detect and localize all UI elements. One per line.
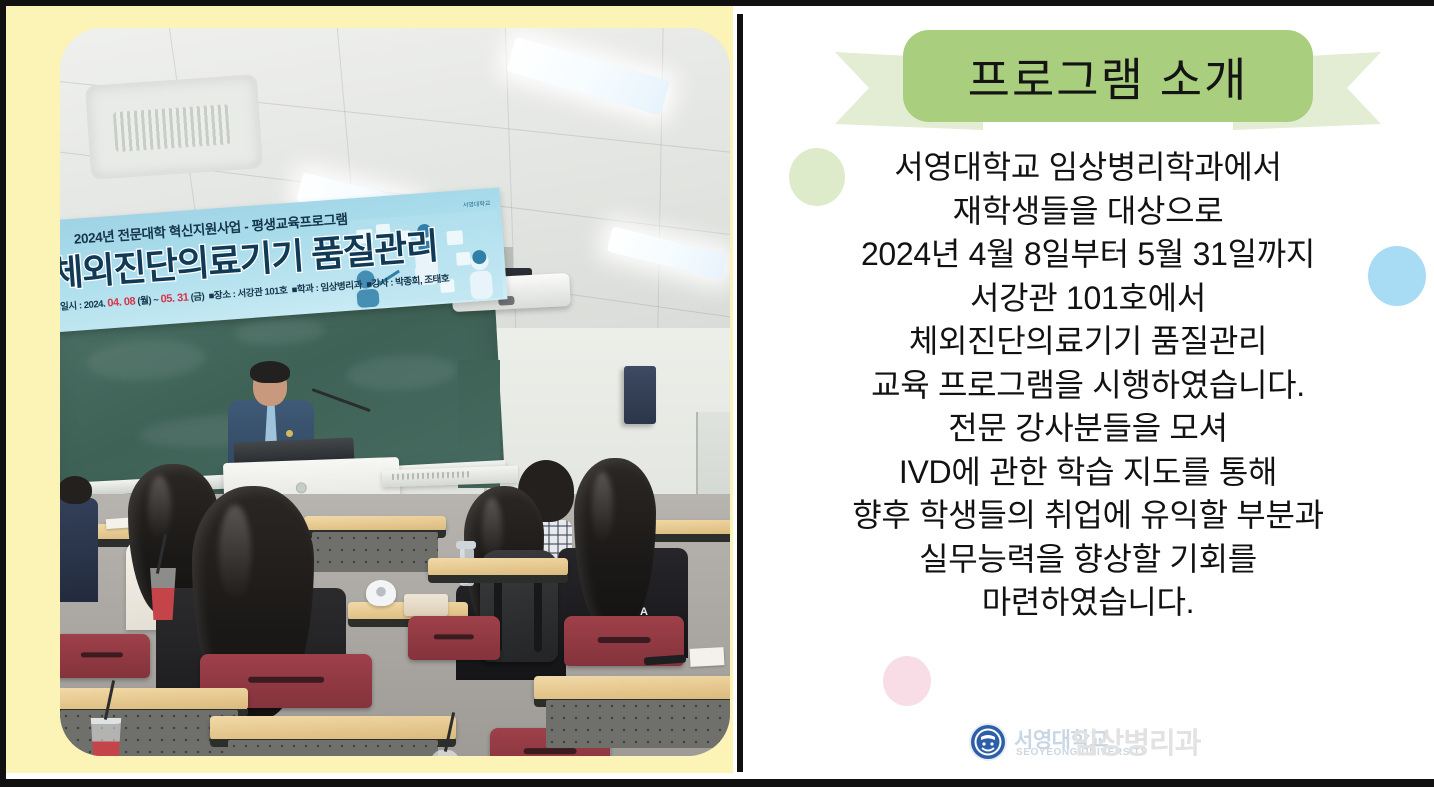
podium-knob — [296, 482, 307, 493]
paper-bag — [404, 594, 448, 616]
banner-date-end-day: (금) — [190, 291, 204, 303]
footer-logo: 서영대학교 SEOYEONG UNIVERSITY 임상병리과 — [968, 718, 1248, 770]
slide-canvas: 서영대학교 2024년 전문대학 혁신지원사업 - 평생교육프로그램 체외진단의… — [0, 0, 1434, 787]
section-title-ribbon: 프로그램 소개 — [833, 26, 1383, 134]
description-line: 체외진단의료기기 품질관리 — [773, 320, 1403, 364]
banner-info-prefix: ■일시 : 2024. — [60, 299, 106, 314]
program-description: 서영대학교 임상병리학과에서 재학생들을 대상으로 2024년 4월 8일부터 … — [773, 146, 1403, 625]
vent-grille — [113, 104, 232, 152]
right-text-panel: 프로그램 소개 서영대학교 임상병리학과에서 재학생들을 대상으로 2024년 … — [743, 6, 1434, 779]
banner-date-start: 04. 08 — [107, 295, 136, 309]
description-line: 마련하였습니다. — [773, 581, 1403, 625]
console-grille — [392, 471, 470, 480]
description-line: 실무능력을 향상할 기회를 — [773, 538, 1403, 582]
photo-illustration: 서영대학교 2024년 전문대학 혁신지원사업 - 평생교육프로그램 체외진단의… — [60, 28, 730, 756]
university-emblem-icon — [968, 722, 1008, 762]
banner-place: ■장소 : 서강관 101호 — [208, 285, 287, 302]
description-line: 전문 강사분들을 모셔 — [773, 407, 1403, 451]
chair-1 — [60, 634, 150, 678]
lecturer-hair — [250, 361, 290, 383]
description-line: 교육 프로그램을 시행하였습니다. — [773, 364, 1403, 408]
desk-panel-front-center — [228, 740, 438, 756]
ceiling-air-vent — [85, 74, 263, 180]
banner-date-end: 05. 31 — [160, 292, 189, 306]
tape-roll — [366, 580, 396, 606]
attendee-left-suit — [60, 498, 98, 602]
classroom-photo: 서영대학교 2024년 전문대학 혁신지원사업 - 평생교육프로그램 체외진단의… — [60, 28, 730, 756]
left-photo-panel: 서영대학교 2024년 전문대학 혁신지원사업 - 평생교육프로그램 체외진단의… — [6, 6, 733, 773]
description-line: 향후 학생들의 취업에 유익할 부분과 — [773, 494, 1403, 538]
desk-panel-backrow-mid — [312, 532, 438, 572]
banner-date-start-day: (월) — [137, 295, 151, 307]
frame-bottom-rule — [0, 779, 1434, 787]
description-line: 서강관 101호에서 — [773, 277, 1403, 321]
desk-front-center — [210, 716, 456, 740]
banner-date-tilde: ~ — [153, 295, 159, 306]
section-title: 프로그램 소개 — [833, 26, 1383, 134]
chair-3 — [408, 616, 500, 660]
desk-backrow-mid — [304, 516, 446, 531]
student-long-hair-right — [574, 458, 656, 630]
description-line: IVD에 관한 학습 지도를 통해 — [773, 451, 1403, 495]
desk-front-left — [60, 688, 248, 710]
wall-speaker — [624, 366, 656, 424]
desk-right-mid — [428, 558, 568, 576]
attendee-left-head — [60, 476, 92, 504]
desk-panel-front-right — [546, 700, 730, 748]
lecturer-badge — [286, 430, 293, 437]
desk-front-right — [534, 676, 730, 700]
banner-university-logo: 서영대학교 — [463, 198, 491, 209]
description-line: 서영대학교 임상병리학과에서 — [773, 146, 1403, 190]
department-name: 임상병리과 — [1072, 720, 1200, 762]
banner-dept: ■학과 : 임상병리과 — [291, 280, 362, 296]
decor-dot-pink — [883, 656, 931, 706]
notebook-right — [690, 647, 725, 667]
description-line: 2024년 4월 8일부터 5월 31일까지 — [773, 233, 1403, 277]
description-line: 재학생들을 대상으로 — [773, 190, 1403, 234]
